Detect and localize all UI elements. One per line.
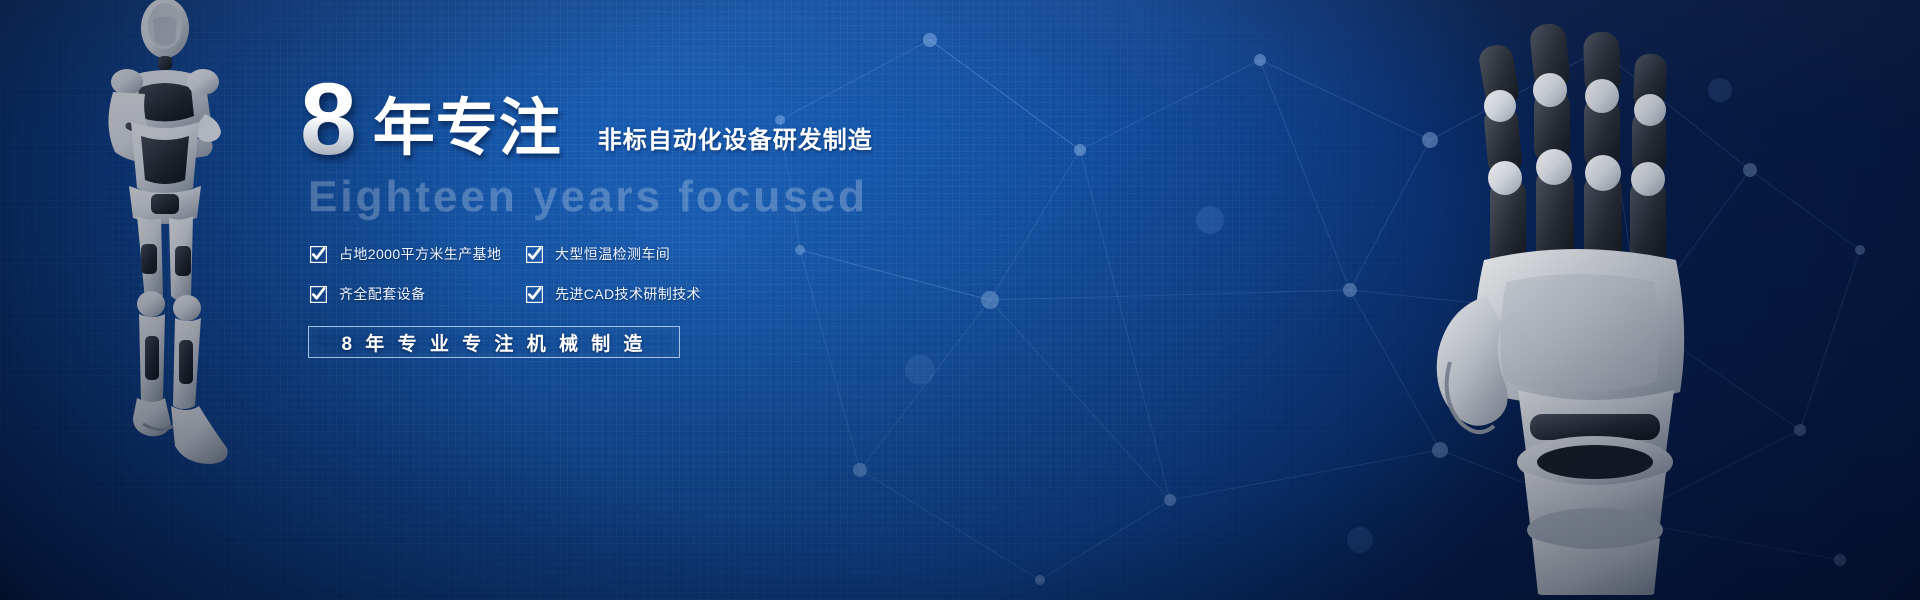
feature-label: 先进CAD技术研制技术	[555, 284, 701, 304]
robotic-hand-graphic	[1432, 10, 1902, 595]
check-icon	[310, 246, 327, 263]
feature-label: 齐全配套设备	[339, 284, 425, 304]
headline-chinese: 年专注	[373, 98, 562, 164]
headline-subtitle: 非标自动化设备研发制造	[598, 120, 873, 164]
feature-item: 齐全配套设备	[310, 284, 518, 304]
cta-label: 8 年 专 业 专 注 机 械 制 造	[341, 329, 646, 356]
headline-row: 8 年专注 非标自动化设备研发制造	[300, 78, 1080, 164]
feature-label: 占地2000平方米生产基地	[339, 244, 501, 264]
check-icon	[526, 246, 543, 263]
feature-label: 大型恒温检测车间	[555, 244, 670, 264]
cta-banner-button[interactable]: 8 年 专 业 专 注 机 械 制 造	[308, 326, 680, 358]
check-icon	[526, 286, 543, 303]
feature-list: 占地2000平方米生产基地 大型恒温检测车间 齐全配套设备 先进CAD技术研制技…	[310, 244, 730, 304]
ghost-english-text: Eighteen years focused	[308, 172, 1080, 222]
humanoid-robot-figure	[55, 0, 275, 496]
check-icon	[310, 286, 327, 303]
hero-banner: 8 年专注 非标自动化设备研发制造 Eighteen years focused…	[0, 0, 1920, 600]
feature-item: 先进CAD技术研制技术	[526, 284, 730, 304]
banner-content: 8 年专注 非标自动化设备研发制造 Eighteen years focused…	[300, 78, 1080, 358]
feature-item: 大型恒温检测车间	[526, 244, 730, 264]
feature-item: 占地2000平方米生产基地	[310, 244, 518, 264]
years-number: 8	[300, 76, 355, 164]
